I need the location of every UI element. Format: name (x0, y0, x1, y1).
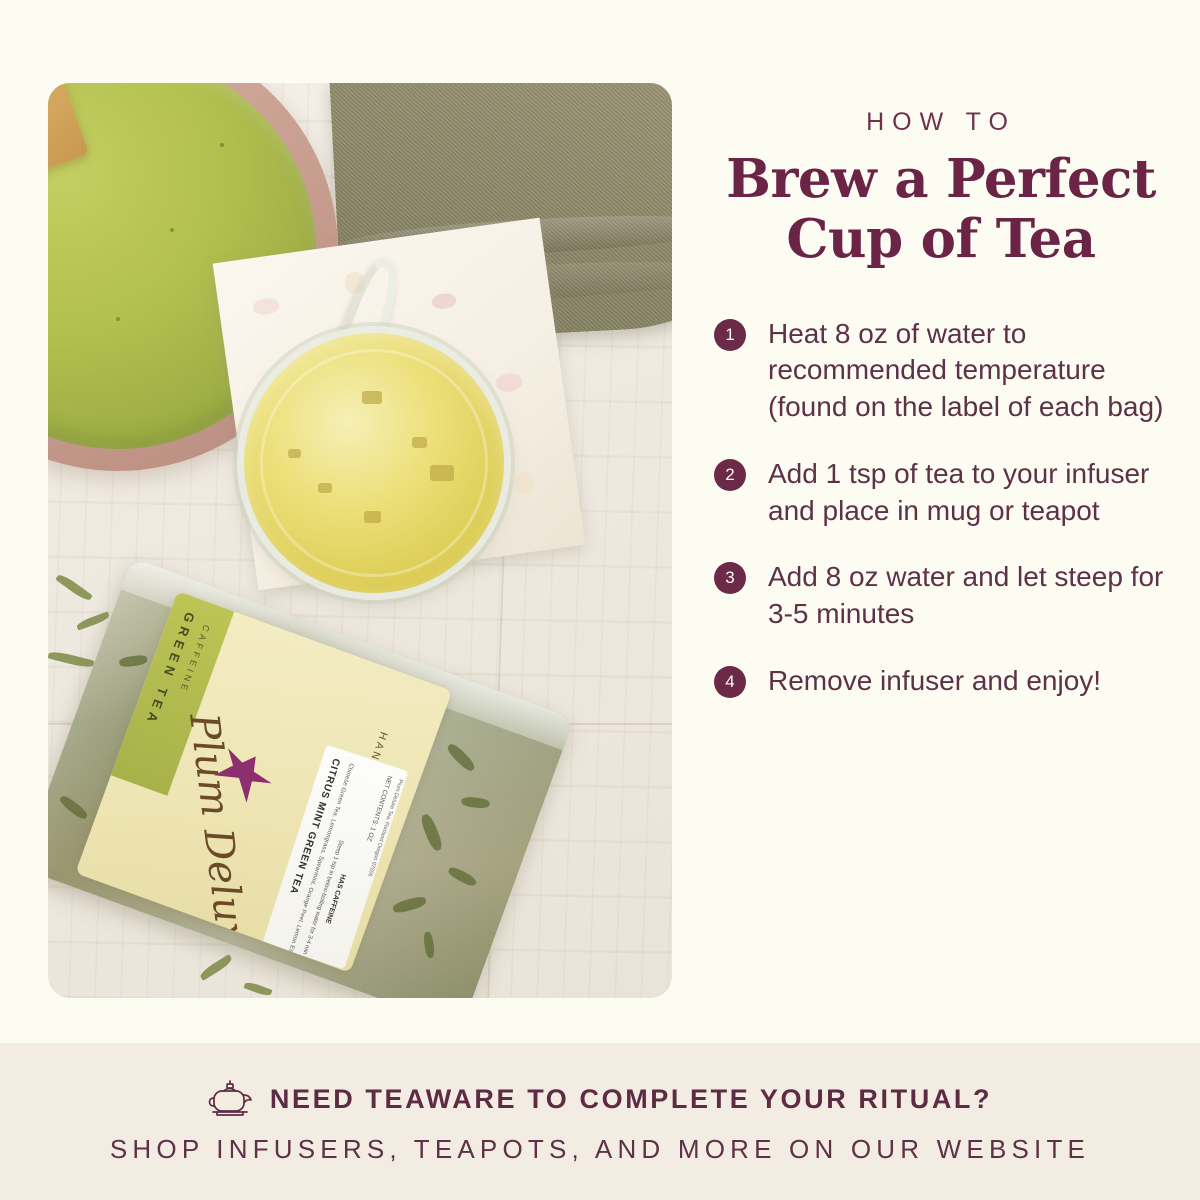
tea-leaf-fleck (288, 449, 301, 458)
infographic-page: GREEN TEA CAFFEINE HAND BLENDED TEAS Plu… (0, 0, 1200, 1200)
tea-mug (244, 333, 504, 593)
list-item: 2 Add 1 tsp of tea to your infuser and p… (714, 456, 1168, 529)
instructions-panel: HOW TO Brew a Perfect Cup of Tea 1 Heat … (706, 0, 1176, 1043)
terrazzo-fleck (252, 297, 280, 316)
tea-leaf (119, 654, 148, 668)
terrazzo-fleck (513, 471, 536, 496)
headline-line-1: Brew a Perfect (726, 148, 1156, 210)
step-number-badge: 3 (714, 562, 746, 594)
eyebrow-label: HOW TO (706, 0, 1176, 137)
plate-speck (116, 317, 120, 321)
step-text: Add 1 tsp of tea to your infuser and pla… (768, 456, 1168, 529)
tea-leaf (419, 813, 444, 853)
tea-leaf-fleck (430, 465, 454, 481)
tea-leaf (461, 796, 490, 809)
tea-leaf-fleck (362, 391, 382, 404)
tea-leaf (445, 742, 477, 774)
tea-leaf-fleck (412, 437, 427, 448)
footer-headline-row: NEED TEAWARE TO COMPLETE YOUR RITUAL? (208, 1078, 992, 1120)
teapot-icon (208, 1078, 254, 1120)
tea-leaf-fleck (318, 483, 332, 493)
list-item: 4 Remove infuser and enjoy! (714, 663, 1168, 700)
step-text: Heat 8 oz of water to recommended temper… (768, 316, 1168, 426)
footer-banner: NEED TEAWARE TO COMPLETE YOUR RITUAL? SH… (0, 1043, 1200, 1200)
hero-photo: GREEN TEA CAFFEINE HAND BLENDED TEAS Plu… (48, 83, 672, 998)
terrazzo-fleck (495, 372, 523, 393)
photo-scene: GREEN TEA CAFFEINE HAND BLENDED TEAS Plu… (48, 83, 672, 998)
tea-leaf (447, 865, 478, 888)
plate-speck (220, 143, 224, 147)
steps-list: 1 Heat 8 oz of water to recommended temp… (706, 316, 1176, 699)
step-number-badge: 1 (714, 319, 746, 351)
step-number-badge: 2 (714, 459, 746, 491)
tea-leaf (58, 794, 89, 822)
list-item: 1 Heat 8 oz of water to recommended temp… (714, 316, 1168, 426)
list-item: 3 Add 8 oz water and let steep for 3-5 m… (714, 559, 1168, 632)
headline-line-2: Cup of Tea (786, 208, 1095, 270)
step-number-badge: 4 (714, 666, 746, 698)
step-text: Add 8 oz water and let steep for 3-5 min… (768, 559, 1168, 632)
step-text: Remove infuser and enjoy! (768, 663, 1101, 700)
tea-leaf (423, 931, 436, 958)
page-title: Brew a Perfect Cup of Tea (706, 149, 1176, 270)
tea-leaf (392, 895, 428, 915)
tea-leaf-fleck (364, 511, 381, 523)
footer-line-1: NEED TEAWARE TO COMPLETE YOUR RITUAL? (270, 1084, 992, 1115)
mug-rim (260, 349, 488, 577)
footer-line-2: SHOP INFUSERS, TEAPOTS, AND MORE ON OUR … (110, 1134, 1090, 1165)
ingredients-text: Chinese Green Tea, Lemongrass, Spearmint… (282, 762, 354, 969)
plate-speck (170, 228, 174, 232)
terrazzo-fleck (431, 292, 457, 310)
